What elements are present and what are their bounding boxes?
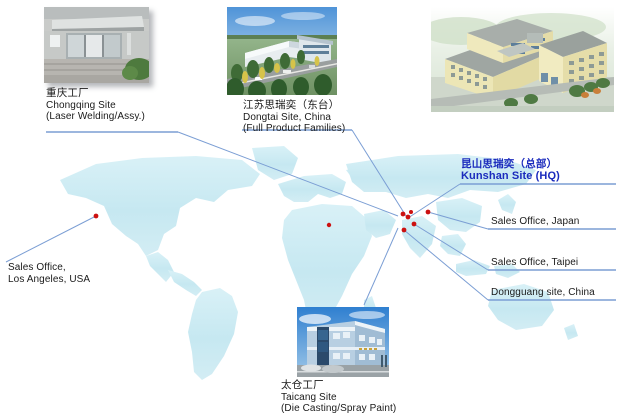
label-la-line1: Sales Office, [8,262,90,274]
label-sales-office-los-angeles: Sales Office, Los Angeles, USA [8,262,90,285]
label-dongtai: 江苏思瑞奕（东台） Dongtai Site, China (Full Prod… [243,100,345,135]
label-la-line2: Los Angeles, USA [8,274,90,286]
label-taicang-cn: 太仓工厂 [281,380,396,392]
label-taipei-line1: Sales Office, Taipei [491,257,578,269]
label-chongqing: 重庆工厂 Chongqing Site (Laser Welding/Assy.… [46,88,145,123]
label-chongqing-en: Chongqing Site [46,100,145,112]
label-sales-office-taipei: Sales Office, Taipei [491,257,578,269]
taicang-facility-photo [297,307,389,377]
label-dongguang-site: Dongguang site, China [491,287,595,299]
label-kunshan-hq: 昆山思瑞奕（总部） Kunshan Site (HQ) [461,159,560,182]
label-dongtai-en: Dongtai Site, China [243,112,345,124]
chongqing-facility-photo [44,7,149,83]
dongtai-facility-photo [227,7,337,95]
site-markers [94,210,431,233]
label-chongqing-cn: 重庆工厂 [46,88,145,100]
label-kunshan-cn: 昆山思瑞奕（总部） [461,159,560,171]
label-chongqing-detail: (Laser Welding/Assy.) [46,111,145,123]
label-dongtai-detail: (Full Product Families) [243,123,345,135]
label-taicang-detail: (Die Casting/Spray Paint) [281,403,396,415]
label-dongtai-cn: 江苏思瑞奕（东台） [243,100,345,112]
label-taicang: 太仓工厂 Taicang Site (Die Casting/Spray Pai… [281,380,396,415]
label-sales-office-japan: Sales Office, Japan [491,216,579,228]
label-kunshan-en: Kunshan Site (HQ) [461,171,560,183]
label-japan-line1: Sales Office, Japan [491,216,579,228]
kunshan-facility-photo [431,7,614,112]
label-dongguang-line1: Dongguang site, China [491,287,595,299]
label-taicang-en: Taicang Site [281,392,396,404]
slide-canvas: 重庆工厂 Chongqing Site (Laser Welding/Assy.… [0,0,622,418]
